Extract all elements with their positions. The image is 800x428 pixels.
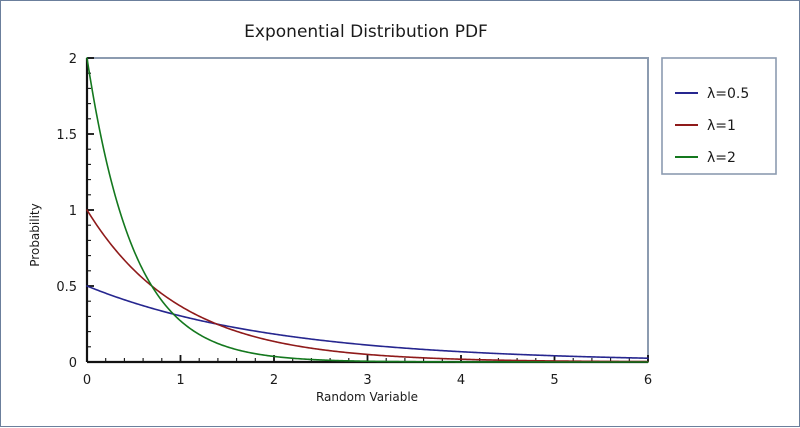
plot-frame-edges (87, 58, 648, 362)
y-tick-label: 2 (69, 52, 77, 67)
series-line-2 (87, 58, 648, 362)
x-tick-label: 3 (363, 373, 371, 388)
series-line-1 (87, 210, 648, 362)
x-tick-label: 0 (83, 373, 91, 388)
x-tick-label: 2 (270, 373, 278, 388)
y-tick-label: 1.5 (56, 128, 77, 143)
exponential-pdf-chart: Exponential Distribution PDF 012345600.5… (1, 1, 800, 428)
axis-ticks (87, 58, 648, 362)
axis-tick-labels: 012345600.511.52 (56, 52, 652, 388)
axes (87, 58, 648, 362)
x-tick-label: 4 (457, 373, 465, 388)
legend-label: λ=1 (707, 118, 736, 134)
x-tick-label: 6 (644, 373, 652, 388)
y-tick-label: 0.5 (56, 280, 77, 295)
legend-label: λ=0.5 (707, 86, 749, 102)
y-tick-label: 1 (69, 204, 77, 219)
legend: λ=0.5λ=1λ=2 (662, 58, 776, 174)
data-series-group (87, 58, 648, 362)
y-axis-label: Probability (28, 203, 42, 266)
x-tick-label: 5 (550, 373, 558, 388)
chart-title: Exponential Distribution PDF (244, 22, 488, 42)
x-tick-label: 1 (176, 373, 184, 388)
y-tick-label: 0 (69, 356, 77, 371)
plot-frame (87, 58, 648, 362)
series-line-0.5 (87, 286, 648, 358)
chart-figure: Exponential Distribution PDF 012345600.5… (0, 0, 800, 427)
legend-label: λ=2 (707, 150, 736, 166)
x-axis-label: Random Variable (316, 390, 418, 404)
